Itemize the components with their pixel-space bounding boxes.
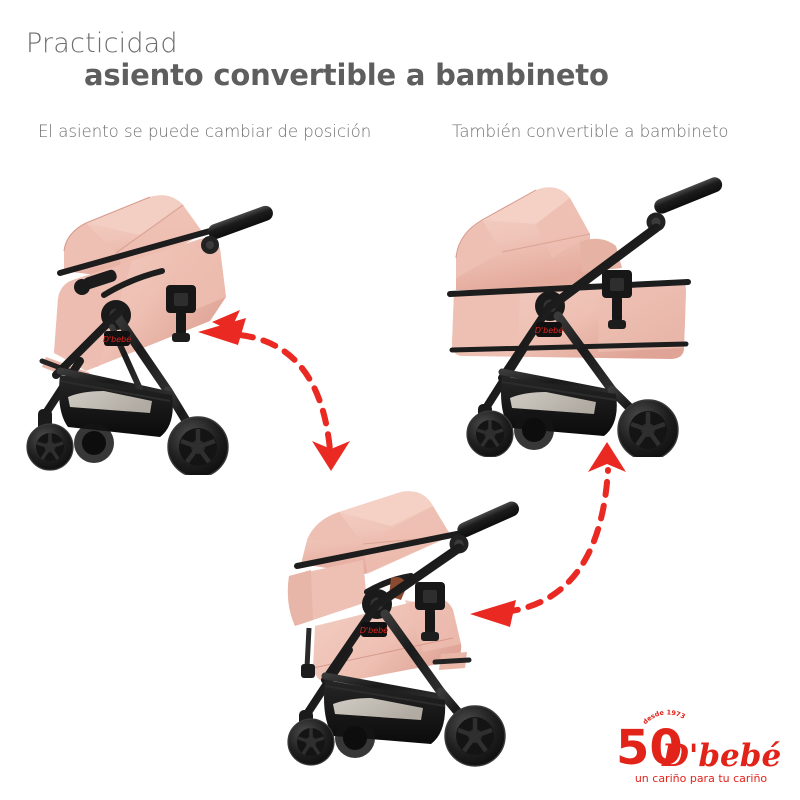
stroller-seat-reverse: D'bebé — [20, 175, 300, 475]
seat-back-forward — [288, 560, 367, 626]
front-wheel-back-bassinet — [514, 410, 554, 450]
caption-right: También convertible a bambineto — [452, 122, 729, 141]
rear-wheel-bassinet — [618, 400, 678, 457]
page-title: asiento convertible a bambineto — [84, 58, 609, 92]
svg-text:D'bebé: D'bebé — [103, 334, 131, 344]
rear-wheel-forward — [445, 706, 505, 766]
push-handle-bassinet — [647, 175, 725, 231]
logo-brand: D'bebé — [661, 738, 781, 774]
brand-badge-bassinet: D'bebé — [535, 322, 563, 337]
svg-text:D'bebé: D'bebé — [535, 325, 563, 335]
rear-wheel-reverse — [168, 417, 228, 475]
page-eyebrow: Practicidad — [26, 28, 178, 59]
logo-tagline: un cariño para tu cariño — [635, 772, 768, 785]
stroller-bassinet: D'bebé — [440, 172, 740, 457]
stroller-seat-forward: D'bebé — [255, 478, 555, 778]
push-handle-reverse — [201, 204, 275, 254]
front-wheel-back-forward — [335, 718, 375, 758]
harness-strap-forward — [307, 628, 309, 668]
bassinet-hood — [456, 187, 590, 290]
front-wheel-back-reverse — [74, 423, 114, 463]
brand-badge-forward: D'bebé — [360, 622, 388, 637]
svg-text:D'bebé: D'bebé — [360, 625, 388, 635]
brand-badge-reverse: D'bebé — [103, 331, 131, 346]
brand-logo: desde 1973 50 D'bebé un cariño para tu c… — [612, 702, 790, 788]
infographic-page: Practicidad asiento convertible a bambin… — [0, 0, 800, 800]
caption-left: El asiento se puede cambiar de posición — [38, 122, 371, 141]
